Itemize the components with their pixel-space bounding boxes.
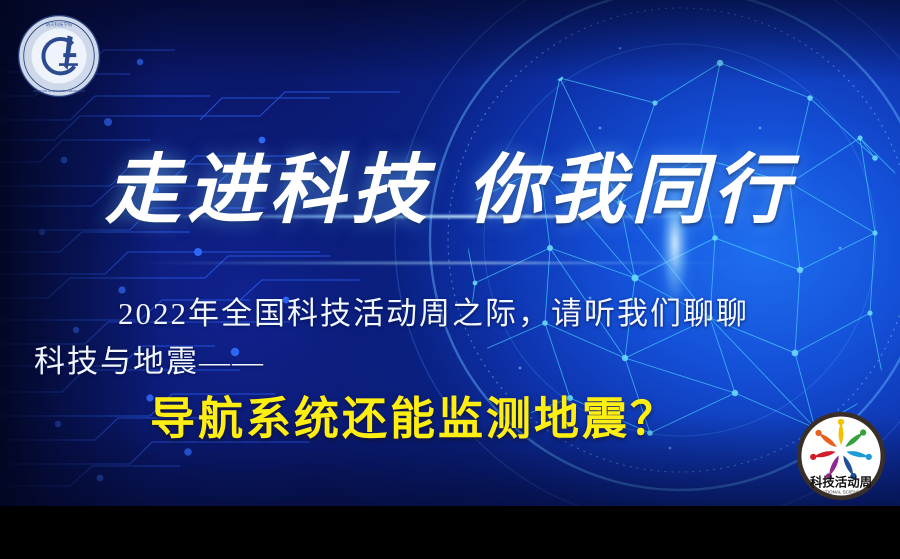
university-emblem-logo: 防灾科技学院 INSTITUTE OF DISASTER PREVENTION bbox=[16, 13, 102, 99]
badge-text-cn: 科技活动周 bbox=[810, 474, 872, 489]
svg-text:INSTITUTE OF DISASTER PREVENTI: INSTITUTE OF DISASTER PREVENTION bbox=[33, 89, 85, 93]
main-title: 走进科技你我同行 bbox=[0, 128, 900, 238]
poster-canvas: 防灾科技学院 INSTITUTE OF DISASTER PREVENTION … bbox=[0, 0, 900, 559]
subtitle-line-1: 2022年全国科技活动周之际，请听我们聊聊 bbox=[0, 290, 900, 338]
national-science-week-badge: 科技活动周 NATIONAL SCIENCE bbox=[795, 410, 887, 502]
bottom-black-band bbox=[0, 506, 900, 559]
headline-question: 导航系统还能监测地震？ bbox=[0, 382, 900, 447]
subtitle-block: 2022年全国科技活动周之际，请听我们聊聊 科技与地震—— bbox=[0, 290, 900, 386]
subtitle-line-2: 科技与地震—— bbox=[0, 338, 900, 386]
svg-text:防灾科技学院: 防灾科技学院 bbox=[46, 21, 73, 28]
main-title-part1: 走进科技 bbox=[105, 149, 433, 233]
badge-text-en: NATIONAL SCIENCE bbox=[819, 490, 863, 495]
main-title-part2: 你我同行 bbox=[467, 149, 795, 233]
